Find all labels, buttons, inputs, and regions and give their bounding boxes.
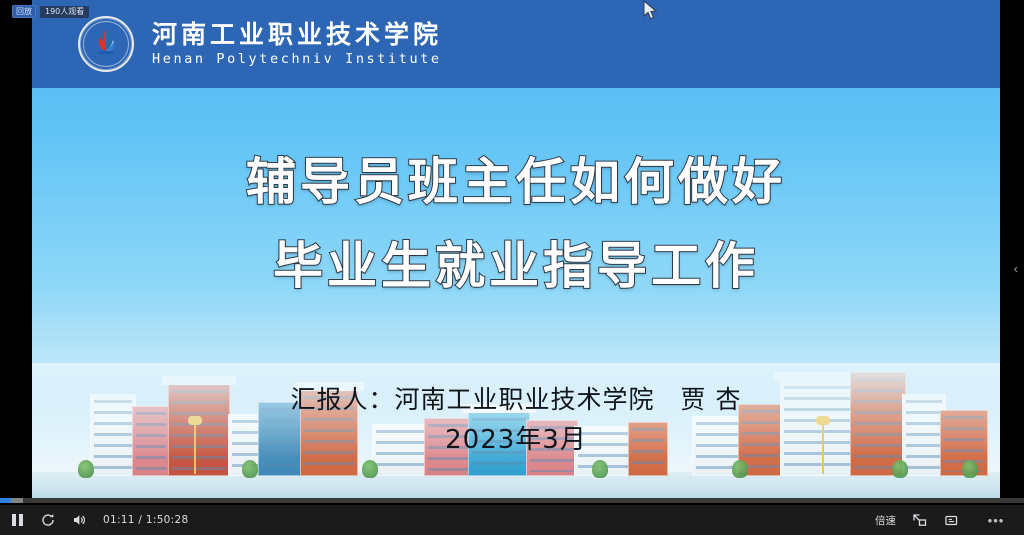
player-control-bar[interactable]: 01:11 / 1:50:28 倍速 ••• [0, 505, 1024, 535]
viewer-badge: 回放 190人观看 [12, 5, 89, 18]
slide-title-line-2: 毕业生就业指导工作 [32, 224, 1000, 308]
school-name-en: Henan Polytechniv Institute [152, 51, 442, 67]
slide-byline-block: 汇报人：河南工业职业技术学院 贾 杏 2023年3月 [32, 380, 1000, 460]
replay-icon[interactable] [39, 511, 57, 529]
slide-title: 辅导员班主任如何做好 毕业生就业指导工作 [32, 140, 1000, 308]
slide-title-line-1: 辅导员班主任如何做好 [32, 140, 1000, 224]
pip-icon[interactable] [910, 511, 928, 529]
sidebar-collapse-chevron-icon[interactable]: ‹ [1014, 262, 1018, 275]
viewer-count-label: 190人观看 [40, 6, 89, 18]
playback-speed-button[interactable]: 倍速 [875, 513, 896, 528]
slide-presenter: 汇报人：河南工业职业技术学院 贾 杏 [32, 380, 1000, 420]
progress-played [0, 498, 11, 503]
crest-flame-icon [91, 27, 121, 57]
video-player[interactable]: 河南工业职业技术学院 Henan Polytechniv Institute [0, 0, 1024, 535]
slide-date: 2023年3月 [32, 420, 1000, 460]
more-options-button[interactable]: ••• [974, 505, 1018, 535]
fullscreen-icon[interactable] [942, 511, 960, 529]
school-name-cn: 河南工业职业技术学院 [152, 21, 442, 49]
pause-icon[interactable] [8, 511, 26, 529]
school-crest-icon [78, 16, 134, 72]
presentation-slide: 河南工业职业技术学院 Henan Polytechniv Institute [32, 0, 1000, 498]
replay-tag: 回放 [12, 5, 36, 18]
letterbox-right [1000, 0, 1024, 498]
progress-bar[interactable] [0, 498, 1024, 503]
letterbox-left [0, 0, 32, 498]
slide-header: 河南工业职业技术学院 Henan Polytechniv Institute [32, 0, 1000, 88]
volume-icon[interactable] [70, 511, 88, 529]
time-display: 01:11 / 1:50:28 [103, 514, 188, 526]
